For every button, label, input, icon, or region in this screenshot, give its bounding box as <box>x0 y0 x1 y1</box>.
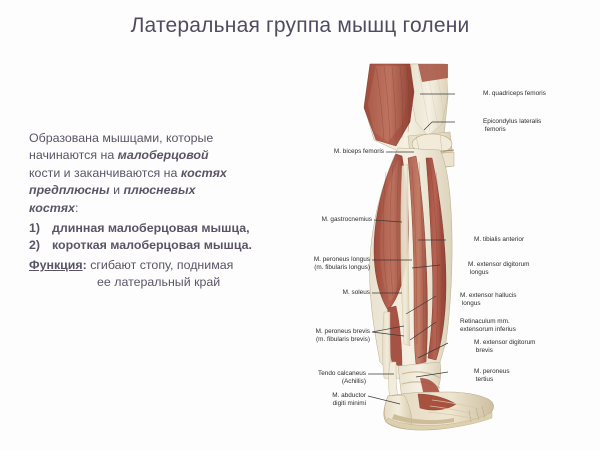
description-line-3: кости и заканчиваются на костях <box>29 165 281 182</box>
muscle-list: 1) длинная малоберцовая мышца, 2) коротк… <box>29 220 281 255</box>
label-line: (m. fibularis longus) <box>314 264 370 271</box>
slide-page: Латеральная группа мышц голени Образован… <box>0 0 600 450</box>
label-line: tertius <box>474 376 493 383</box>
emphasis-predplusny: предплюсны <box>29 183 110 197</box>
label-abductor-digiti-minimi: M. abductordigiti minimi <box>226 392 366 407</box>
label-extensor-digitorum-brevis: M. extensor digitorum brevis <box>474 339 535 354</box>
label-line: M. extensor digitorum <box>474 339 535 346</box>
label-line: M. extensor digitorum <box>468 261 529 268</box>
page-title: Латеральная группа мышц голени <box>0 14 600 38</box>
list-item-label: короткая малоберцовая мышца. <box>52 237 252 254</box>
label-peroneus-longus: M. peroneus longus(m. fibularis longus) <box>208 256 370 271</box>
label-tibialis-anterior: M. tibialis anterior <box>474 236 524 244</box>
description-line-4: предплюсны и плюсневых <box>29 182 281 199</box>
foot-region <box>384 392 494 430</box>
label-extensor-digitorum-longus: M. extensor digitorum longus <box>468 261 529 276</box>
label-line: M. peroneus brevis <box>316 328 370 335</box>
label-line: M. quadriceps femoris <box>483 90 546 97</box>
description-text: : <box>75 201 78 215</box>
label-line: Epicondylus lateralis <box>483 118 541 125</box>
description-line-1: Образована мышцами, которые <box>29 130 281 147</box>
lower-leg-region <box>370 148 452 398</box>
label-line: M. abductor <box>332 392 366 399</box>
label-line: M. peroneus longus <box>314 256 370 263</box>
description-text: кости и заканчиваются на <box>29 166 181 180</box>
label-soleus: M. soleus <box>242 289 370 297</box>
description-line-5: костях: <box>29 200 281 217</box>
label-line: M. soleus <box>343 289 370 296</box>
label-peroneus-brevis: M. peroneus brevis(m. fibularis brevis) <box>206 328 370 343</box>
label-quadriceps-femoris: M. quadriceps femoris <box>483 90 546 98</box>
label-line: extensorum inferius <box>460 326 516 333</box>
label-biceps-femoris: M. biceps femoris <box>232 148 384 156</box>
label-epicondylus-lateralis-femoris: Epicondylus lateralis femoris <box>483 118 541 133</box>
label-line: (Achillis) <box>340 378 366 385</box>
label-line: femoris <box>483 126 506 133</box>
label-line: Retinaculum mm. <box>460 318 510 325</box>
label-line: digiti minimi <box>333 400 366 407</box>
label-line: (m. fibularis brevis) <box>316 336 370 343</box>
description-text: Образована мышцами, которые <box>29 131 213 145</box>
list-item-number: 2) <box>29 237 46 254</box>
label-line: M. extensor hallucis <box>460 292 516 299</box>
label-line: M. tibialis anterior <box>474 236 524 243</box>
label-line: longus <box>460 300 481 307</box>
label-peroneus-tertius: M. peroneus tertius <box>474 368 510 383</box>
function-colon: : <box>83 258 87 272</box>
label-tendo-calcaneus: Tendo calcaneus (Achillis) <box>210 370 366 385</box>
emphasis-kostyah-2: костях <box>29 201 75 215</box>
label-line: M. biceps femoris <box>334 148 384 155</box>
description-text: начинаются на <box>29 148 118 162</box>
emphasis-maloberczovoy: малоберцовой <box>118 148 209 162</box>
function-label: Функция <box>29 258 83 272</box>
label-gastrocnemius: M. gastrocnemius <box>216 216 372 224</box>
list-item: 2) короткая малоберцовая мышца. <box>29 237 281 254</box>
emphasis-plusnevyh: плюсневых <box>123 183 195 197</box>
label-line: M. peroneus <box>474 368 510 375</box>
description-text: и <box>110 183 124 197</box>
label-extensor-hallucis-longus: M. extensor hallucis longus <box>460 292 516 307</box>
emphasis-kostyah: костях <box>181 166 227 180</box>
label-line: Tendo calcaneus <box>318 370 366 377</box>
label-line: brevis <box>474 347 493 354</box>
list-item-number: 1) <box>29 220 46 237</box>
label-line: M. gastrocnemius <box>322 216 372 223</box>
label-line: longus <box>468 269 489 276</box>
label-retinaculum-extensorum-inferius: Retinaculum mm.extensorum inferius <box>460 318 516 333</box>
